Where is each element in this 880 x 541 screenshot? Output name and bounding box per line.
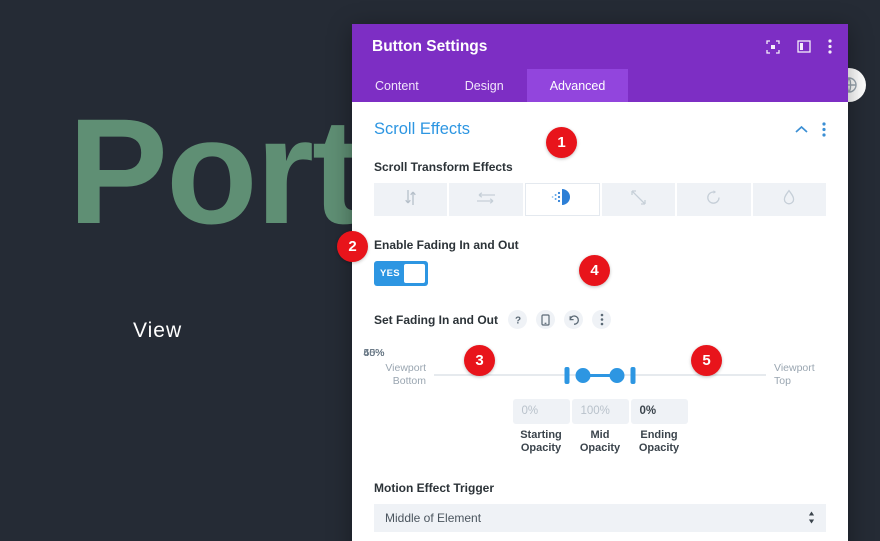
annotation-badge-1: 1 [546,127,577,158]
motion-trigger-value: Middle of Element [385,511,481,525]
ending-opacity-input[interactable]: 0% [631,399,688,424]
mid-opacity-input[interactable]: 100% [572,399,629,424]
enable-fading-toggle[interactable]: YES [374,261,428,286]
motion-trigger-label: Motion Effect Trigger [374,481,826,495]
page-headline: Port [68,96,360,246]
transform-effects-group [374,183,826,216]
mid-opacity-caption: Mid Opacity [572,429,629,457]
viewport-top-label: Viewport Top [766,362,826,388]
starting-opacity-input[interactable]: 0% [513,399,570,424]
slider-handle-mid-end[interactable] [609,368,624,383]
chevron-up-icon[interactable] [795,125,808,134]
annotation-badge-3: 3 [464,345,495,376]
set-fading-row: Set Fading In and Out ? [374,310,826,329]
slider-handle-end[interactable] [631,367,636,384]
slider-handle-mid-start[interactable] [576,368,591,383]
toggle-knob [404,264,425,283]
more-vertical-icon[interactable] [592,310,611,329]
reset-icon[interactable] [564,310,583,329]
slider-row: Viewport Bottom Viewport Top [374,362,826,388]
screen: Port View Button Settings [0,0,880,541]
scroll-effects-header: Scroll Effects [374,120,826,139]
fading-option[interactable] [525,183,600,216]
annotation-badge-2: 2 [337,231,368,262]
starting-opacity-caption: Starting Opacity [513,429,570,457]
svg-text:?: ? [514,315,520,326]
blur-option[interactable] [753,183,826,216]
section-more-vertical-icon[interactable] [822,122,826,137]
titlebar-actions [766,39,832,54]
modal-tabs: Content Design Advanced [352,69,848,102]
tab-design[interactable]: Design [442,69,527,102]
horizontal-motion-option[interactable] [449,183,522,216]
fading-icon [551,188,573,211]
select-stepper-icon [808,511,815,526]
ending-opacity-field: 0% Ending Opacity [631,399,688,457]
slider-tick-labels: 40% 45% 55% 60% [374,347,826,362]
modal-titlebar: Button Settings [352,24,848,69]
motion-trigger-select[interactable]: Middle of Element [374,504,826,532]
more-vertical-icon[interactable] [828,39,832,54]
help-icon[interactable]: ? [508,310,527,329]
rotating-icon [705,189,722,211]
set-fading-label: Set Fading In and Out [374,313,498,327]
vertical-motion-option[interactable] [374,183,447,216]
annotation-badge-4: 4 [579,255,610,286]
modal-body: Scroll Effects Scroll Transform Effects [352,102,848,541]
opacity-fields: 0% Starting Opacity 100% Mid Opacity [374,399,826,457]
scaling-option[interactable] [602,183,675,216]
slider-tick: 60% [363,347,384,359]
slider-handle-start[interactable] [564,367,569,384]
tab-content[interactable]: Content [352,69,442,102]
tab-advanced[interactable]: Advanced [527,69,629,102]
horizontal-motion-icon [476,190,496,210]
mid-opacity-field: 100% Mid Opacity [572,399,629,457]
section-title: Scroll Effects [374,120,781,139]
modal-title: Button Settings [372,38,766,56]
blur-icon [782,189,796,211]
page-subtext: View [133,319,182,343]
viewport-bottom-label: Viewport Bottom [374,362,434,388]
layout-panel-icon[interactable] [797,40,811,53]
responsive-device-icon[interactable] [536,310,555,329]
rotating-option[interactable] [677,183,750,216]
fading-range-slider: 40% 45% 55% 60% Viewport Bottom [374,347,826,456]
vertical-motion-icon [403,189,418,211]
focus-target-icon[interactable] [766,40,780,54]
transform-effects-label: Scroll Transform Effects [374,160,826,174]
ending-opacity-caption: Ending Opacity [631,429,688,457]
toggle-value: YES [377,268,400,279]
starting-opacity-field: 0% Starting Opacity [513,399,570,457]
enable-fading-label: Enable Fading In and Out [374,238,826,252]
scaling-icon [630,189,647,211]
annotation-badge-5: 5 [691,345,722,376]
